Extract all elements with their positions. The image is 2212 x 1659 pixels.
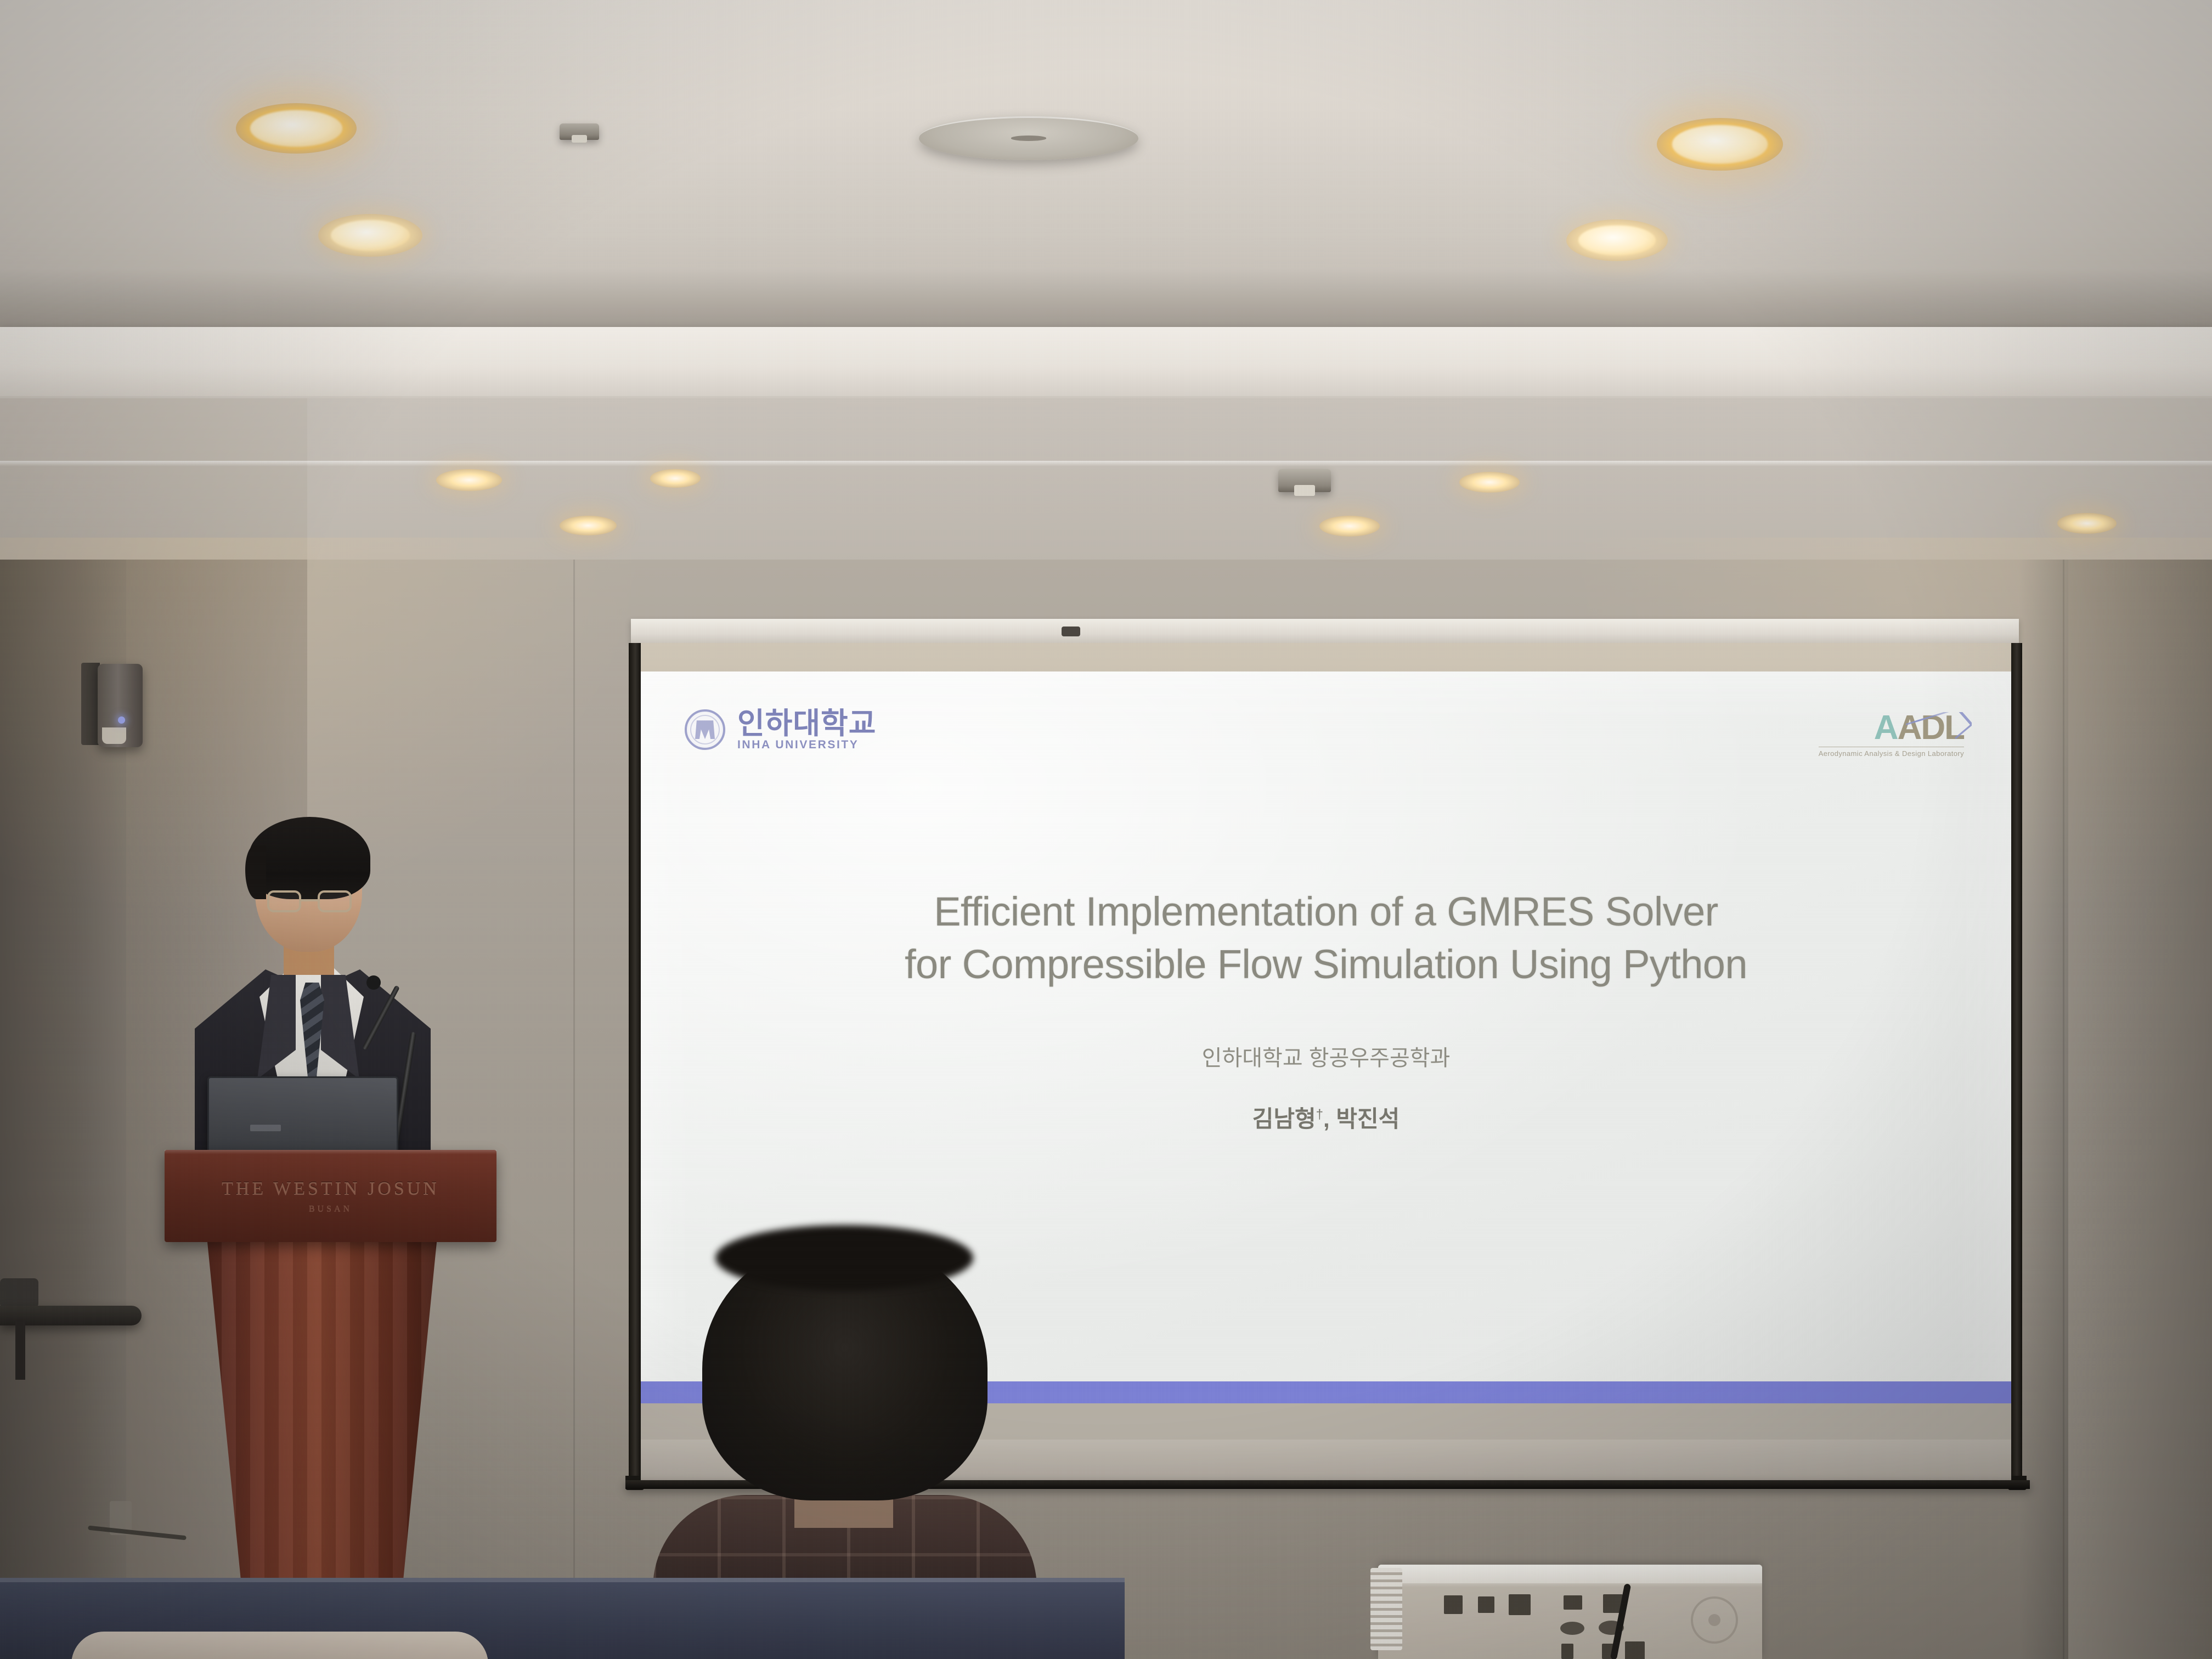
author-primary: 김남형: [1252, 1106, 1316, 1132]
inha-logo-english: INHA UNIVERSITY: [737, 739, 876, 751]
venue-nameplate: THE WESTIN JOSUN BUSAN: [165, 1178, 496, 1214]
soffit-highlight: [0, 461, 2212, 466]
downlight-icon: [236, 103, 357, 154]
venue-city: BUSAN: [165, 1204, 496, 1214]
slide-authors: 김남형†, 박진석: [641, 1101, 2011, 1134]
inha-logo-korean: 인하대학교: [737, 709, 876, 739]
downlight-icon: [1459, 472, 1520, 493]
sprinkler-head-icon: [1278, 469, 1331, 492]
laptop[interactable]: [207, 1076, 398, 1158]
aadl-tagline: Aerodynamic Analysis & Design Laboratory: [1819, 747, 1964, 758]
projector: [1378, 1565, 1762, 1659]
downlight-icon: [650, 469, 701, 488]
downlight-icon: [1319, 516, 1380, 537]
downlight-icon: [318, 214, 422, 257]
projector-port-panel: [1444, 1593, 1674, 1648]
screen-side-rail: [629, 643, 641, 1482]
speaker-grill: [102, 727, 126, 744]
slide-title-line-1: Efficient Implementation of a GMRES Solv…: [641, 885, 2011, 938]
projector-vent: [1370, 1568, 1402, 1650]
downlight-icon: [1566, 219, 1668, 261]
ceiling-soffit-face: [0, 327, 2212, 398]
ceiling: [0, 0, 2212, 335]
aadl-wordmark: AADL: [1874, 711, 1964, 745]
right-wall-return: [2068, 560, 2212, 1659]
inha-university-logo: 인하대학교 INHA UNIVERSITY: [685, 709, 876, 751]
downlight-icon: [1657, 118, 1783, 171]
microphone-capsule-icon: [366, 975, 381, 990]
downlight-icon: [560, 516, 617, 535]
downlight-icon: [2057, 513, 2117, 534]
table-object: [71, 1632, 488, 1659]
speaker-bracket: [81, 663, 100, 745]
screen-casing: [631, 619, 2019, 644]
wall-seam: [573, 560, 575, 1659]
projector-control-pad-icon: [1691, 1596, 1738, 1644]
inha-seal-icon: [685, 709, 725, 750]
aadl-letter-a: A: [1874, 709, 1898, 747]
laptop-logo: [250, 1125, 281, 1131]
speaker-power-led: [118, 716, 125, 724]
sprinkler-head-icon: [560, 123, 599, 140]
screen-casing-mount: [1062, 627, 1080, 636]
presenter-glasses: [265, 890, 357, 912]
slide-affiliation: 인하대학교 항공우주공학과: [641, 1040, 2011, 1072]
projector-top-shell: [1378, 1565, 1762, 1583]
ceiling-diffuser-icon: [919, 116, 1138, 160]
audience-hair: [702, 1237, 988, 1500]
screen-side-rail: [2010, 643, 2022, 1482]
author-secondary: , 박진석: [1323, 1106, 1400, 1132]
conference-room-photo: 인하대학교 INHA UNIVERSITY AADL Aerodynamic A…: [0, 0, 2212, 1659]
podium-front-panel: THE WESTIN JOSUN BUSAN: [165, 1150, 496, 1242]
presenter-hair: [249, 817, 370, 899]
inner-ceiling-plane-left: [0, 398, 307, 563]
slide-title: Efficient Implementation of a GMRES Solv…: [641, 885, 2011, 991]
venue-name: THE WESTIN JOSUN: [165, 1178, 496, 1199]
side-table-object: [0, 1278, 38, 1308]
side-table-leg: [15, 1319, 25, 1380]
inner-ceiling-plane: [285, 398, 2212, 563]
slide-title-line-2: for Compressible Flow Simulation Using P…: [641, 938, 2011, 991]
author-corresponding-mark: †: [1316, 1107, 1323, 1122]
downlight-icon: [436, 469, 502, 491]
aadl-letters-adl: ADL: [1898, 709, 1964, 747]
aadl-lab-logo: AADL Aerodynamic Analysis & Design Labor…: [1819, 711, 1964, 758]
